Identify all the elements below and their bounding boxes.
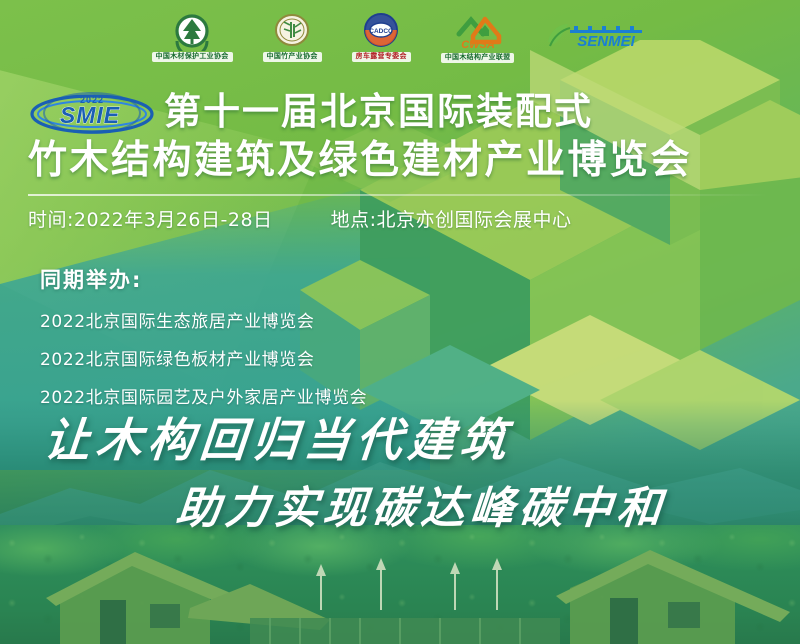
concurrent-events-block: 同期举办: 2022北京国际生态旅居产业博览会 2022北京国际绿色板材产业博览… — [40, 264, 367, 408]
logo-bamboo-industry-association: 中国竹产业协会 — [263, 13, 322, 62]
concurrent-events-heading: 同期举办: — [40, 264, 367, 294]
page-title-line-1: 第十一届北京国际装配式 — [164, 91, 593, 133]
wooden-cabins — [0, 548, 800, 644]
svg-text:SMIE: SMIE — [60, 102, 120, 128]
svg-text:CWSA: CWSA — [461, 39, 495, 51]
slogan-line-1: 让木构回归当代建筑 — [42, 414, 515, 466]
exhibition-banner-poster: 中国木材保护工业协会 中国竹产业协会 CADCC 房车露营专委会 — [0, 0, 800, 644]
svg-text:CADCC: CADCC — [369, 28, 393, 35]
logo-caption: 房车露营专委会 — [352, 52, 411, 62]
logo-senmei: SENMEI — [544, 20, 648, 54]
svg-text:SENMEI: SENMEI — [578, 33, 636, 50]
headline-divider — [28, 194, 768, 196]
event-meta-row: 时间:2022年3月26日-28日 地点:北京亦创国际会展中心 — [28, 205, 780, 232]
association-logo-strip: 中国木材保护工业协会 中国竹产业协会 CADCC 房车露营专委会 — [0, 6, 800, 68]
title-first-row: 2022 SMIE 第十一届北京国际装配式 — [28, 88, 780, 136]
event-venue: 地点:北京亦创国际会展中心 — [331, 205, 572, 232]
logo-caption: 中国木材保护工业协会 — [152, 52, 233, 62]
concurrent-event-item: 2022北京国际生态旅居产业博览会 — [40, 307, 367, 332]
logo-china-wood-structure-industry-alliance: CWSA 中国木结构产业联盟 — [441, 12, 515, 63]
logo-caption: 中国木结构产业联盟 — [441, 53, 515, 63]
tree-shield-icon — [171, 13, 213, 51]
logo-caption: 中国竹产业协会 — [263, 52, 322, 62]
bamboo-seal-icon — [272, 13, 312, 51]
page-title-line-2: 竹木结构建筑及绿色建材产业博览会 — [28, 138, 780, 184]
slogan-line-2: 助力实现碳达峰碳中和 — [174, 484, 668, 534]
headline-block: 2022 SMIE 第十一届北京国际装配式 竹木结构建筑及绿色建材产业博览会 时… — [28, 88, 780, 232]
leaf-senmei-icon: SENMEI — [544, 20, 648, 54]
logo-cadcc-rv-camping-committee: CADCC 房车露营专委会 — [352, 13, 411, 62]
event-date: 时间:2022年3月26日-28日 — [28, 205, 273, 232]
concurrent-event-item: 2022北京国际园艺及户外家居产业博览会 — [40, 383, 367, 408]
cadcc-badge-icon: CADCC — [361, 13, 401, 51]
logo-china-wood-protection-industry-association: 中国木材保护工业协会 — [152, 13, 233, 62]
house-cwsa-icon: CWSA — [451, 12, 505, 52]
concurrent-event-item: 2022北京国际绿色板材产业博览会 — [40, 345, 367, 370]
smie-logo: 2022 SMIE — [28, 90, 156, 136]
